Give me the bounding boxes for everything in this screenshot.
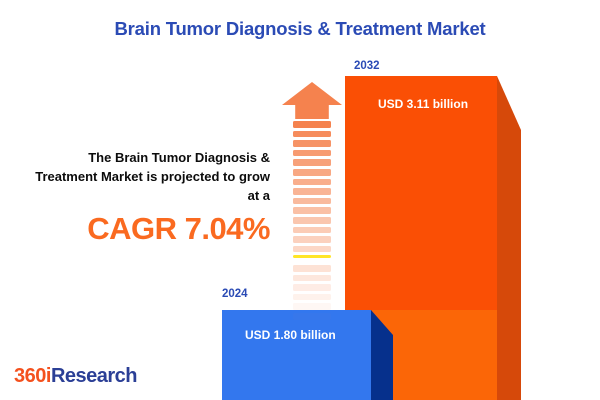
arrow-segment <box>293 131 331 138</box>
arrow-segment <box>293 188 331 195</box>
cagr-lead-text: The Brain Tumor Diagnosis & Treatment Ma… <box>30 148 270 205</box>
bar-label-2024: 2024 <box>222 288 248 300</box>
arrow-segment <box>293 313 331 320</box>
arrow-segment <box>293 169 331 176</box>
arrow-segment-highlight <box>293 255 331 258</box>
arrow-segment <box>293 179 331 186</box>
cagr-value-text: CAGR 7.04% <box>30 211 270 247</box>
arrow-segment <box>293 217 331 224</box>
logo-research-text: Research <box>51 365 137 387</box>
page-title: Brain Tumor Diagnosis & Treatment Market <box>0 18 600 40</box>
brand-logo: 360iResearch <box>14 365 137 388</box>
bar-2032-side-bevel <box>497 76 521 400</box>
arrow-segment <box>293 284 331 291</box>
arrow-segment <box>293 236 331 243</box>
arrow-segment <box>293 246 331 253</box>
logo-360i-text: 360i <box>14 365 51 387</box>
bar-value-2024: USD 1.80 billion <box>245 328 336 342</box>
arrow-segment <box>293 198 331 205</box>
arrow-segment <box>293 275 331 282</box>
cagr-callout: The Brain Tumor Diagnosis & Treatment Ma… <box>30 148 270 247</box>
growth-arrow-icon <box>280 82 344 292</box>
arrow-segment <box>293 227 331 234</box>
arrow-segment <box>293 207 331 214</box>
arrow-segment <box>293 121 331 128</box>
arrow-segment <box>293 265 331 272</box>
bar-value-2032: USD 3.11 billion <box>378 97 468 111</box>
arrow-segment <box>293 140 331 147</box>
arrow-segment <box>293 159 331 166</box>
arrow-segment <box>293 303 331 310</box>
arrow-head-icon <box>282 82 342 119</box>
infographic-canvas: Brain Tumor Diagnosis & Treatment Market… <box>0 0 600 400</box>
bar-label-2032: 2032 <box>354 60 380 72</box>
bar-2032-face-upper <box>345 76 497 310</box>
arrow-segment <box>293 294 331 301</box>
arrow-segment <box>293 150 331 157</box>
